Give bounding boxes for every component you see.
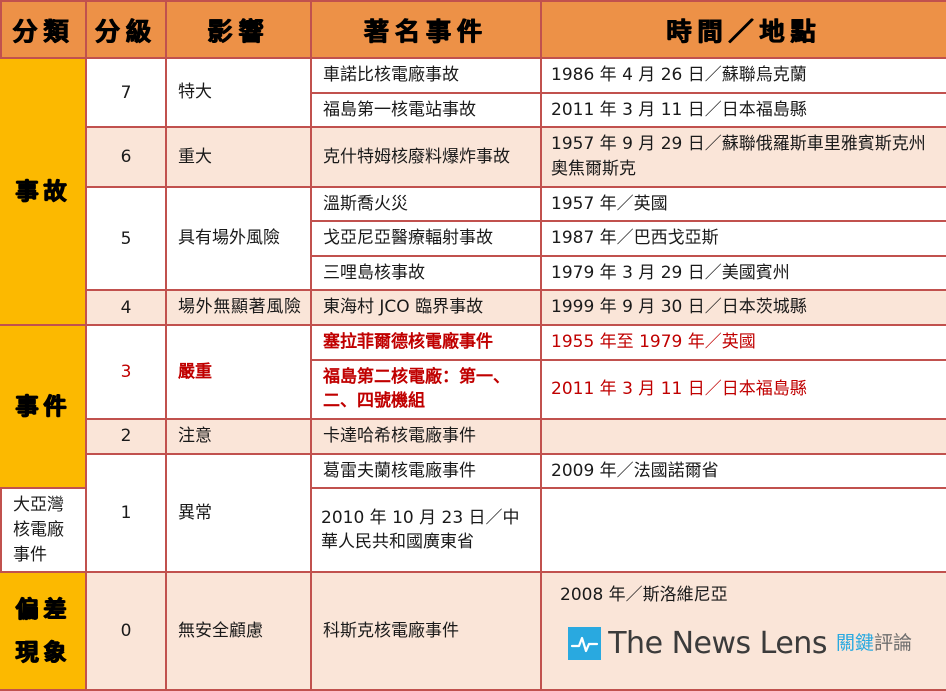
event-cell: 車諾比核電廠事故 — [311, 58, 541, 93]
level-cell: 1 — [86, 454, 166, 573]
event-cell: 卡達哈希核電廠事件 — [311, 419, 541, 454]
table-row: 偏差 現象 0 無安全顧慮 科斯克核電廠事件 2008 年／斯洛維尼亞 The … — [1, 572, 946, 690]
table-row: 事件 3 嚴重 塞拉菲爾德核電廠事件 1955 年至 1979 年／英國 — [1, 325, 946, 360]
when-cell: 1987 年／巴西戈亞斯 — [541, 221, 946, 256]
event-cell: 科斯克核電廠事件 — [311, 572, 541, 690]
when-cell — [541, 419, 946, 454]
logo-chinese-name: 關鍵評論 — [836, 630, 912, 658]
when-cell: 2010 年 10 月 23 日／中華人民共和國廣東省 — [311, 488, 541, 572]
level-cell: 2 — [86, 419, 166, 454]
impact-cell: 特大 — [166, 58, 311, 127]
event-cell: 溫斯喬火災 — [311, 187, 541, 222]
column-header-level: 分級 — [86, 1, 166, 58]
pulse-square-icon — [568, 627, 601, 660]
event-cell: 福島第一核電站事故 — [311, 93, 541, 128]
category-cell-accident: 事故 — [1, 58, 86, 325]
when-cell: 2009 年／法國諾爾省 — [541, 454, 946, 489]
column-header-category: 分類 — [1, 1, 86, 58]
ines-scale-table: 分類 分級 影響 著名事件 時間／地點 事故 7 特大 車諾比核電廠事故 198… — [0, 0, 946, 691]
table-row: 1 異常 葛雷夫蘭核電廠事件 2009 年／法國諾爾省 — [1, 454, 946, 489]
event-cell: 塞拉菲爾德核電廠事件 — [311, 325, 541, 360]
level-cell: 5 — [86, 187, 166, 291]
impact-cell: 具有場外風險 — [166, 187, 311, 291]
category-cell-incident: 事件 — [1, 325, 86, 488]
column-header-when: 時間／地點 — [541, 1, 946, 58]
event-cell: 葛雷夫蘭核電廠事件 — [311, 454, 541, 489]
when-cell: 1999 年 9 月 30 日／日本茨城縣 — [541, 290, 946, 325]
impact-cell: 嚴重 — [166, 325, 311, 419]
when-cell: 2011 年 3 月 11 日／日本福島縣 — [541, 360, 946, 419]
category-cell-deviation: 偏差 現象 — [1, 572, 86, 690]
table-row: 4 場外無顯著風險 東海村 JCO 臨界事故 1999 年 9 月 30 日／日… — [1, 290, 946, 325]
event-cell: 克什特姆核廢料爆炸事故 — [311, 127, 541, 186]
impact-cell: 無安全顧慮 — [166, 572, 311, 690]
category-label: 事故 — [16, 178, 72, 205]
when-cell: 2008 年／斯洛維尼亞 The News Lens 關鍵評論 — [541, 572, 946, 690]
table-body: 事故 7 特大 車諾比核電廠事故 1986 年 4 月 26 日／蘇聯烏克蘭 福… — [1, 58, 946, 690]
category-label-line1: 偏差 — [2, 588, 85, 632]
header-row: 分類 分級 影響 著名事件 時間／地點 — [1, 1, 946, 58]
table-header: 分類 分級 影響 著名事件 時間／地點 — [1, 1, 946, 58]
when-cell: 1957 年 9 月 29 日／蘇聯俄羅斯車里雅賓斯克州奧焦爾斯克 — [541, 127, 946, 186]
event-cell: 東海村 JCO 臨界事故 — [311, 290, 541, 325]
category-label: 事件 — [16, 393, 72, 420]
column-header-impact: 影響 — [166, 1, 311, 58]
table-row: 5 具有場外風險 溫斯喬火災 1957 年／英國 — [1, 187, 946, 222]
logo-wordmark: The News Lens — [608, 622, 827, 666]
impact-cell: 重大 — [166, 127, 311, 186]
level-cell: 3 — [86, 325, 166, 419]
event-cell: 大亞灣核電廠事件 — [1, 488, 86, 572]
table-row: 6 重大 克什特姆核廢料爆炸事故 1957 年 9 月 29 日／蘇聯俄羅斯車里… — [1, 127, 946, 186]
impact-cell: 場外無顯著風險 — [166, 290, 311, 325]
event-cell: 戈亞尼亞醫療輻射事故 — [311, 221, 541, 256]
when-cell: 1979 年 3 月 29 日／美國賓州 — [541, 256, 946, 291]
column-header-event: 著名事件 — [311, 1, 541, 58]
level-cell: 4 — [86, 290, 166, 325]
level-cell: 6 — [86, 127, 166, 186]
level-cell: 7 — [86, 58, 166, 127]
table-row: 2 注意 卡達哈希核電廠事件 — [1, 419, 946, 454]
the-news-lens-logo[interactable]: The News Lens 關鍵評論 — [560, 622, 928, 666]
impact-cell: 異常 — [166, 454, 311, 573]
logo-chinese-gray: 評論 — [874, 632, 912, 654]
when-cell: 1986 年 4 月 26 日／蘇聯烏克蘭 — [541, 58, 946, 93]
category-label-line2: 現象 — [2, 631, 85, 675]
event-cell: 福島第二核電廠：第一、二、四號機組 — [311, 360, 541, 419]
event-cell: 三哩島核事故 — [311, 256, 541, 291]
when-cell: 1957 年／英國 — [541, 187, 946, 222]
table-row: 事故 7 特大 車諾比核電廠事故 1986 年 4 月 26 日／蘇聯烏克蘭 — [1, 58, 946, 93]
when-cell: 1955 年至 1979 年／英國 — [541, 325, 946, 360]
when-cell: 2011 年 3 月 11 日／日本福島縣 — [541, 93, 946, 128]
deviation-when-block: 2008 年／斯洛維尼亞 The News Lens 關鍵評論 — [551, 577, 937, 669]
impact-cell: 注意 — [166, 419, 311, 454]
logo-chinese-blue: 關鍵 — [836, 632, 874, 654]
when-text: 2008 年／斯洛維尼亞 — [560, 583, 928, 608]
level-cell: 0 — [86, 572, 166, 690]
